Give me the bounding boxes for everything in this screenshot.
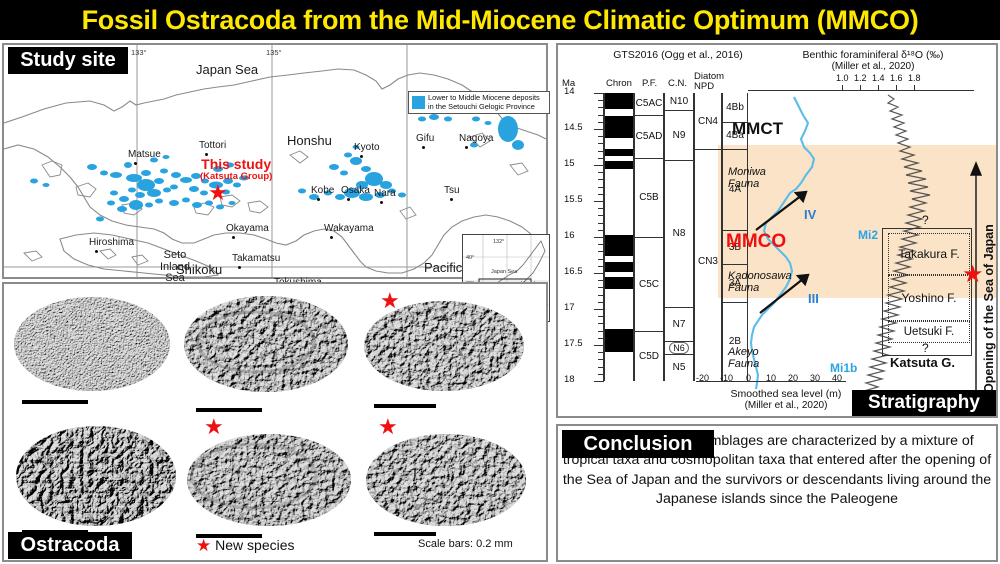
city-dot	[347, 198, 350, 201]
star-icon: ★	[196, 536, 211, 555]
isotope-tick-1.8: 1.8	[908, 73, 921, 83]
cell-label: C5C	[639, 279, 659, 290]
city-label-nagoya: Nagoya	[459, 133, 493, 144]
city-label-matsue: Matsue	[128, 149, 161, 160]
isotope-tick-1.2: 1.2	[854, 73, 867, 83]
fauna-moniwa: Moniwa Fauna	[728, 167, 766, 190]
city-label-tottori: Tottori	[199, 140, 226, 151]
age-tick-15: 15	[564, 158, 575, 169]
planktic-foram-column-cell-n9: N9	[664, 110, 694, 160]
city-label-takamatsu: Takamatsu	[232, 253, 280, 264]
isotope-event-mi1b: Mi1b	[830, 361, 857, 375]
poster-title: Fossil Ostracoda from the Mid-Miocene Cl…	[0, 0, 1000, 40]
specimen-4	[16, 426, 176, 526]
city-dot	[238, 266, 241, 269]
ostracoda-panel: ★ ★ ★	[2, 282, 548, 562]
polarity-block-0	[605, 93, 633, 109]
city-label-tsu: Tsu	[444, 185, 460, 196]
sea-level-tick-20: 20	[788, 373, 798, 383]
isotope-tick-1.0: 1.0	[836, 73, 849, 83]
city-dot	[380, 201, 383, 204]
age-tick-16.5: 16.5	[564, 266, 583, 277]
diatom-npd-column-cell-4bb: 4Bb	[722, 93, 748, 122]
uncertainty-mark-top: ?	[922, 213, 929, 227]
calcareous-nannofossil-column-cell-cn3: CN3	[694, 149, 722, 374]
stratigraphy-title: Stratigraphy	[852, 390, 996, 416]
formation-yoshino: Yoshino F.	[888, 275, 970, 321]
arrow-label-iii: III	[808, 291, 819, 306]
isotope-axis-line	[748, 90, 974, 91]
formation-uetsuki: Uetsuki F.	[888, 321, 970, 343]
planktic-foram-column-cell-n7: N7	[664, 307, 694, 342]
study-site-title: Study site	[8, 47, 128, 74]
chron-column-cell-c5d: C5D	[634, 331, 664, 381]
scale-bar	[196, 408, 262, 412]
age-tick-15.5: 15.5	[564, 194, 583, 205]
planktic-foram-column-cell-n10: N10	[664, 93, 694, 110]
city-dot	[95, 250, 98, 253]
cell-label: C5B	[639, 192, 658, 203]
cell-label: N10	[670, 96, 688, 107]
legend-text: Lower to Middle Miocene deposits in the …	[428, 94, 540, 111]
poster-title-bar: Fossil Ostracoda from the Mid-Miocene Cl…	[0, 0, 1000, 40]
study-formation-star-icon: ★	[962, 263, 984, 287]
sea-level-tick-0: 0	[746, 373, 751, 383]
arrow-label-iv: IV	[804, 207, 816, 222]
polarity-block-1	[605, 116, 633, 138]
ostracoda-plate	[4, 284, 546, 560]
cell-label: N6	[669, 342, 689, 354]
age-tick-16: 16	[564, 230, 575, 241]
chron-header: Chron	[606, 78, 632, 89]
new-species-key: ★ New species	[196, 536, 295, 556]
city-dot	[134, 162, 137, 165]
cell-label: C5D	[639, 351, 659, 362]
city-dot	[465, 146, 468, 149]
planktic-foram-column-cell-n8: N8	[664, 160, 694, 307]
chron-column-cell-c5b: C5B	[634, 158, 664, 237]
ostracoda-title: Ostracoda	[8, 532, 132, 559]
specimen-6	[366, 434, 526, 526]
age-minor-tick	[598, 381, 603, 382]
scale-bar	[374, 532, 436, 536]
region-label-seto-inland-sea: Seto Inland Sea	[152, 250, 198, 285]
mmct-label: MMCT	[732, 119, 783, 139]
opening-of-sea-of-japan-label: Opening of the Sea of Japan	[982, 224, 996, 393]
age-tick-14.5: 14.5	[564, 122, 583, 133]
cell-label: CN4	[698, 116, 718, 127]
chron-column-cell-c5ac: C5AC	[634, 93, 664, 115]
calcareous-nannofossil-column-cell-cn4: CN4	[694, 93, 722, 149]
npd-header: NPD	[694, 81, 714, 92]
pf-header: P.F.	[642, 78, 657, 89]
inset-label-5: 40°	[466, 255, 474, 261]
city-dot	[330, 236, 333, 239]
sea-label-1: Pacific	[424, 260, 462, 275]
cell-label: N7	[673, 319, 686, 330]
sea-level-tick--10: -10	[720, 373, 733, 383]
cell-label: N8	[673, 228, 686, 239]
specimen-1	[14, 297, 170, 391]
city-label-osaka: Osaka	[341, 185, 370, 196]
chron-column-cell-c5ad: C5AD	[634, 115, 664, 158]
study-site-star-icon: ★	[208, 182, 228, 204]
cell-label: N5	[673, 362, 686, 373]
age-tick-14: 14	[564, 86, 575, 97]
this-study-label: This study	[201, 156, 271, 172]
legend-line-2: in the Setouchi Gelogic Province	[428, 103, 540, 111]
isotope-tick-1.6: 1.6	[890, 73, 903, 83]
city-dot	[205, 153, 208, 156]
polarity-block-5	[605, 262, 633, 271]
planktic-foram-column-cell-n6: N6	[664, 341, 694, 353]
city-label-kyoto: Kyoto	[354, 142, 380, 153]
cell-label: C5AC	[636, 98, 663, 109]
uncertainty-mark-bottom: ?	[922, 341, 929, 355]
city-label-nara: Nara	[374, 188, 396, 199]
sea-level-tick--20: -20	[696, 373, 709, 383]
this-study-annotation: This study (Katsuta Group)	[200, 157, 272, 182]
specimen-3	[364, 301, 524, 391]
age-tick-17.5: 17.5	[564, 338, 583, 349]
planktic-foram-column-cell-n5: N5	[664, 354, 694, 381]
specimen-5	[187, 434, 351, 526]
new-species-star-icon: ★	[380, 290, 400, 312]
polarity-block-3	[605, 161, 633, 169]
formation-takakura: Takakura F.	[888, 233, 970, 275]
cell-label: C5AD	[636, 131, 663, 142]
mmco-label: MMCO	[726, 231, 786, 253]
poster-figure: Fossil Ostracoda from the Mid-Miocene Cl…	[0, 0, 1000, 564]
inset-label-0: Japan Sea	[491, 269, 517, 275]
polarity-block-4	[605, 235, 633, 257]
isotope-tick-1.4: 1.4	[872, 73, 885, 83]
city-dot	[360, 155, 363, 158]
chron-column-cell-c5c: C5C	[634, 237, 664, 331]
scale-bar-note: Scale bars: 0.2 mm	[418, 538, 513, 550]
fauna-kadonosawa: Kadonosawa Fauna	[728, 271, 792, 294]
cell-label: N9	[673, 130, 686, 141]
fauna-akeyo: Akeyo Fauna	[728, 347, 759, 370]
isotope-header-line-1: Benthic foraminiferal δ¹⁸O (‰)	[748, 49, 998, 61]
map-legend: Lower to Middle Miocene deposits in the …	[408, 91, 550, 114]
new-species-star-icon: ★	[378, 416, 398, 438]
cell-label: 4Bb	[726, 102, 744, 113]
polarity-block-6	[605, 277, 633, 289]
polarity-block-7	[605, 329, 633, 352]
age-tick-17: 17	[564, 302, 575, 313]
sea-label-0: Japan Sea	[196, 62, 258, 77]
isotope-event-mi2: Mi2	[858, 228, 878, 242]
specimen-2	[184, 296, 348, 392]
age-tick-18: 18	[564, 374, 575, 385]
polarity-block-2	[605, 149, 633, 156]
group-label-katsuta: Katsuta G.	[890, 355, 955, 370]
cn-header: C.N.	[668, 78, 687, 89]
city-dot	[422, 146, 425, 149]
cell-label: CN3	[698, 256, 718, 267]
scale-bar	[22, 400, 88, 404]
conclusion-title: Conclusion	[562, 430, 714, 458]
region-label-0: Honshu	[287, 133, 332, 148]
study-site-panel: Lower to Middle Miocene deposits in the …	[2, 43, 548, 279]
coordinate-label-1: 135°	[266, 48, 282, 57]
city-label-gifu: Gifu	[416, 133, 434, 144]
city-label-hiroshima: Hiroshima	[89, 237, 134, 248]
stratigraphy-panel: GTS2016 (Ogg et al., 2016) Benthic foram…	[556, 43, 998, 418]
city-label-wakayama: Wakayama	[324, 223, 374, 234]
legend-color-swatch	[412, 96, 425, 109]
sea-level-tick-30: 30	[810, 373, 820, 383]
city-dot	[450, 198, 453, 201]
inset-label-3: 132°	[493, 239, 504, 245]
coordinate-label-0: 133°	[131, 48, 147, 57]
new-species-star-icon: ★	[204, 416, 224, 438]
sea-level-tick-10: 10	[766, 373, 776, 383]
city-label-kobe: Kobe	[311, 185, 334, 196]
new-species-key-label: New species	[215, 537, 294, 553]
city-dot	[232, 236, 235, 239]
isotope-header-line-2: (Miller et al., 2020)	[748, 61, 998, 72]
city-label-okayama: Okayama	[226, 223, 269, 234]
city-dot	[317, 198, 320, 201]
scale-bar	[374, 404, 436, 408]
